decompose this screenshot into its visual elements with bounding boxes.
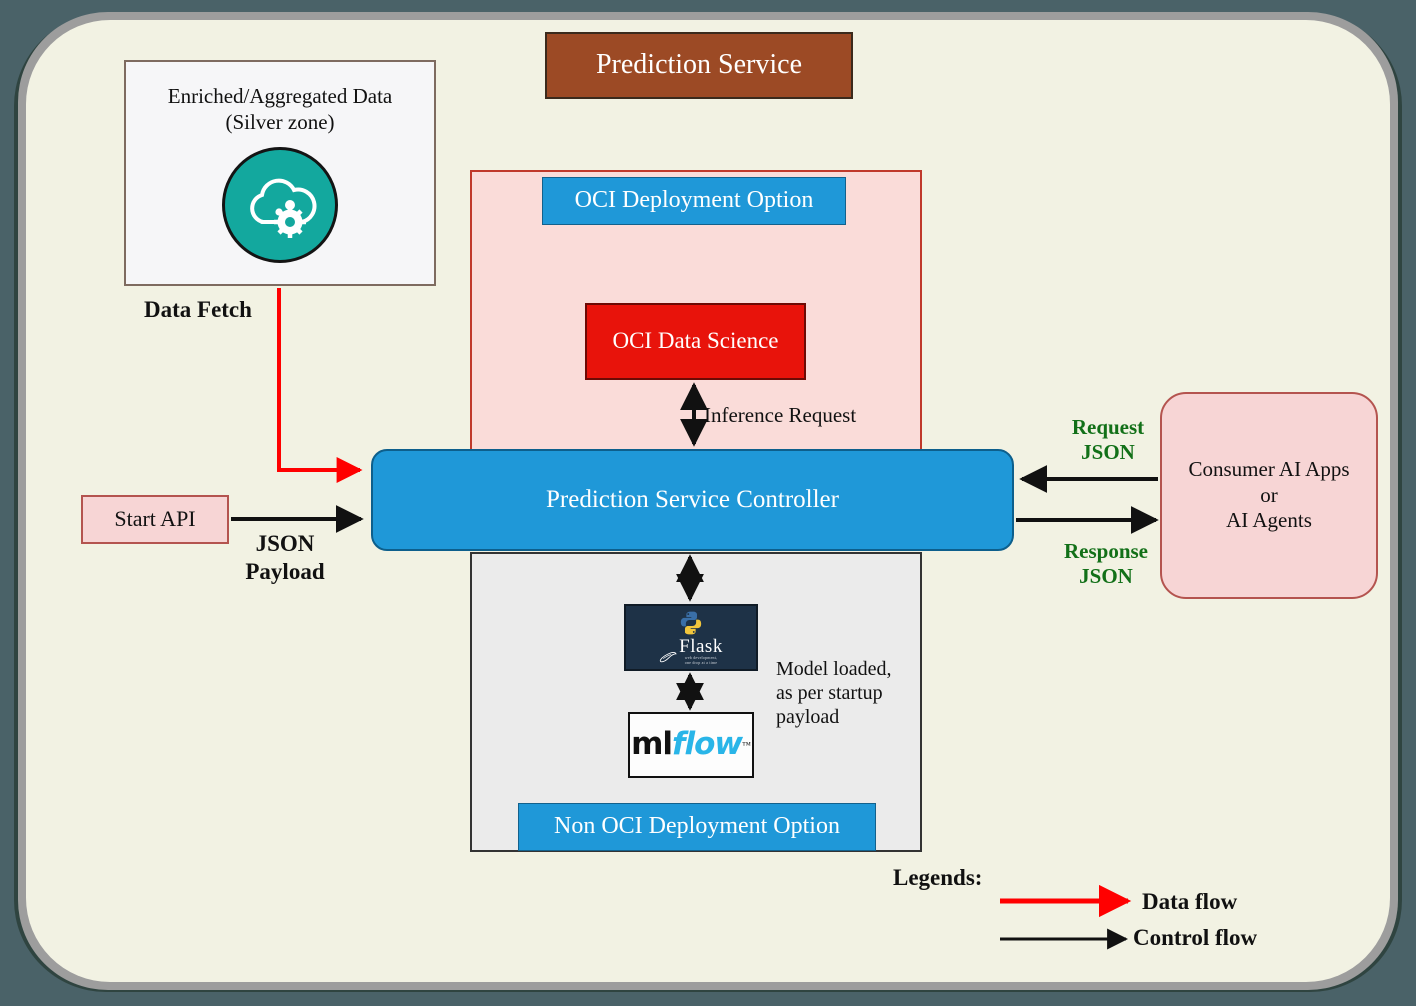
model-loaded-note: Model loaded, as per startup payload — [776, 657, 916, 729]
request-json-line1: Request — [1056, 415, 1160, 440]
silver-zone-line2: (Silver zone) — [168, 110, 392, 136]
mlflow-trademark: ™ — [742, 740, 751, 751]
mlflow-wordmark-ml: ml — [631, 726, 672, 764]
prediction-service-controller-node[interactable]: Prediction Service Controller — [371, 449, 1014, 551]
silver-zone-node[interactable]: Enriched/Aggregated Data (Silver zone) — [124, 60, 436, 286]
json-payload-line2: Payload — [237, 558, 333, 586]
oci-deployment-option-tag[interactable]: OCI Deployment Option — [542, 177, 846, 225]
legend-label-control-flow: Control flow — [1133, 924, 1257, 952]
silver-zone-line1: Enriched/Aggregated Data — [168, 84, 392, 110]
controller-label: Prediction Service Controller — [546, 485, 839, 516]
page-title: Prediction Service — [596, 48, 802, 82]
consumer-line2: or — [1260, 483, 1278, 509]
legend-label-data-flow: Data flow — [1142, 888, 1237, 916]
flask-node[interactable]: Flask web development, one drop at a tim… — [624, 604, 758, 671]
flask-horn-icon — [659, 649, 677, 665]
response-json-line2: JSON — [1048, 564, 1164, 589]
response-json-label: Response JSON — [1048, 539, 1164, 589]
inference-request-label: Inference Request — [704, 403, 856, 428]
json-payload-line1: JSON — [237, 530, 333, 558]
request-json-line2: JSON — [1056, 440, 1160, 465]
diagram-title-box: Prediction Service — [545, 32, 853, 99]
flask-tagline-2: one drop at a time — [679, 661, 723, 666]
mlflow-wordmark-flow: flow — [672, 726, 742, 764]
response-json-line1: Response — [1048, 539, 1164, 564]
silver-zone-label: Enriched/Aggregated Data (Silver zone) — [168, 84, 392, 135]
oci-data-science-label: OCI Data Science — [612, 327, 778, 355]
consumer-line3: AI Agents — [1226, 508, 1312, 534]
start-api-label: Start API — [114, 506, 195, 533]
non-oci-deployment-option-label: Non OCI Deployment Option — [554, 812, 840, 841]
consumer-ai-apps-node[interactable]: Consumer AI Apps or AI Agents — [1160, 392, 1378, 599]
json-payload-label: JSON Payload — [237, 530, 333, 585]
model-loaded-line2: as per startup — [776, 681, 916, 705]
diagram-canvas: Prediction Service Enriched/Aggregated D… — [0, 0, 1416, 1006]
model-loaded-line1: Model loaded, — [776, 657, 916, 681]
model-loaded-line3: payload — [776, 705, 916, 729]
mlflow-node[interactable]: mlflow™ — [628, 712, 754, 778]
consumer-line1: Consumer AI Apps — [1188, 457, 1349, 483]
flask-wordmark: Flask — [679, 637, 723, 656]
request-json-label: Request JSON — [1056, 415, 1160, 465]
python-icon — [678, 610, 704, 636]
start-api-node[interactable]: Start API — [81, 495, 229, 544]
data-fetch-label: Data Fetch — [144, 296, 252, 324]
cloud-gear-glyph — [243, 172, 317, 238]
oci-deployment-option-label: OCI Deployment Option — [575, 186, 814, 215]
cloud-gear-icon — [222, 147, 338, 263]
oci-data-science-node[interactable]: OCI Data Science — [585, 303, 806, 380]
non-oci-deployment-option-tag[interactable]: Non OCI Deployment Option — [518, 803, 876, 851]
legend-heading: Legends: — [893, 864, 982, 892]
